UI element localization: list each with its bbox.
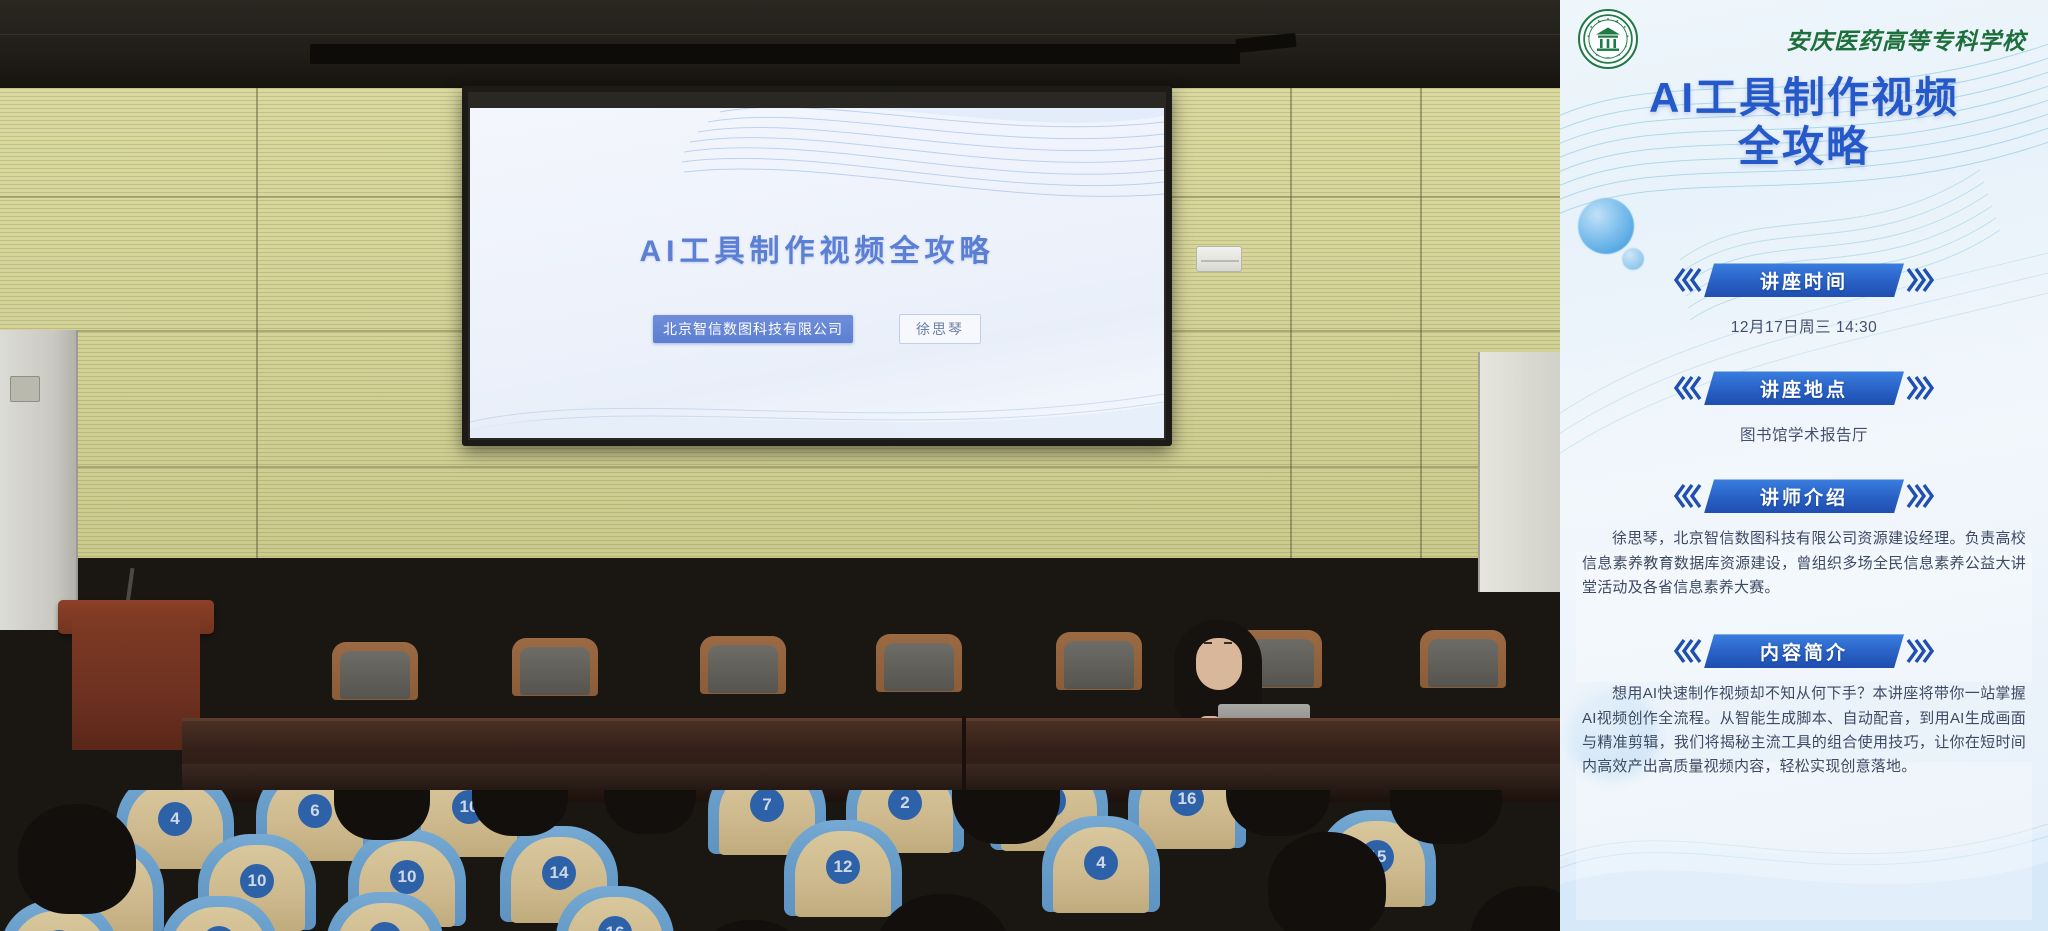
audience-seat: 12 — [784, 820, 902, 916]
ribbon-label: 内容简介 — [1760, 638, 1848, 665]
ribbon-label: 讲座地点 — [1760, 375, 1848, 402]
lecture-venue-value: 图书馆学术报告厅 — [1560, 423, 2048, 445]
chevron-right-icon — [1906, 266, 1936, 294]
slide-footer-wave — [470, 364, 1164, 438]
speaker-bio-text: 徐思琴，北京智信数图科技有限公司资源建设经理。负责高校信息素养教育数据库资源建设… — [1582, 527, 2026, 600]
audience-seat: 10 — [160, 896, 278, 931]
seat-number: 12 — [826, 850, 860, 884]
lecture-time-value: 12月17日周三 14:30 — [1560, 315, 2048, 337]
slide-header-wave — [470, 108, 1164, 228]
projection-screen: AI工具制作视频全攻略 北京智信数图科技有限公司 徐思琴 — [470, 108, 1164, 438]
chevron-left-icon — [1672, 482, 1702, 510]
audience-seat: 14 — [326, 892, 444, 931]
ribbon-speaker-bio: 讲师介绍 — [1670, 479, 1938, 513]
section-content-intro: 内容简介 想用AI快速制作视频却不知从何下手？本讲座将带你一站掌握AI视频创作全… — [1560, 634, 2048, 779]
poster-header: 安庆医药高等专科学校 — [1560, 0, 2048, 78]
seat-number: 6 — [298, 794, 332, 828]
audience-seating: 4 6 10 7 2 9 16 8 10 10 14 12 4 15 12 10… — [0, 790, 1560, 931]
ribbon-label: 讲师介绍 — [1760, 483, 1848, 510]
chevron-left-icon — [1672, 266, 1702, 294]
air-conditioner — [1196, 246, 1242, 272]
seat-number: 4 — [158, 802, 192, 836]
section-lecture-time: 讲座时间 12月17日周三 14:30 — [1560, 263, 2048, 337]
chevron-left-icon — [1672, 374, 1702, 402]
audience-head — [692, 920, 812, 931]
chevron-right-icon — [1906, 482, 1936, 510]
wall-seam — [256, 88, 258, 558]
stage-chair — [332, 642, 418, 702]
poster-title-line-2: 全攻略 — [1560, 123, 2048, 172]
audience-head — [1470, 886, 1560, 931]
ribbon-lecture-time: 讲座时间 — [1670, 263, 1938, 297]
chevron-left-icon — [1672, 637, 1702, 665]
stage-chair — [700, 636, 786, 696]
chevron-right-icon — [1906, 637, 1936, 665]
wall-seam — [0, 466, 1560, 468]
audience-head — [1268, 832, 1386, 931]
screenshot-root: AI工具制作视频全攻略 北京智信数图科技有限公司 徐思琴 — [0, 0, 2048, 931]
chevron-right-icon — [1906, 374, 1936, 402]
pavilion-icon — [1593, 27, 1623, 53]
content-intro-text: 想用AI快速制作视频却不知从何下手？本讲座将带你一站掌握AI视频创作全流程。从智… — [1582, 682, 2026, 779]
section-speaker-bio: 讲师介绍 徐思琴，北京智信数图科技有限公司资源建设经理。负责高校信息素养教育数据… — [1560, 479, 2048, 600]
podium-microphone — [126, 568, 135, 604]
stage-chair — [1056, 632, 1142, 692]
audience-seat: 4 — [1042, 816, 1160, 912]
left-cabinet — [0, 330, 78, 630]
ribbon-label: 讲座时间 — [1760, 267, 1848, 294]
university-name: 安庆医药高等专科学校 — [1638, 22, 2032, 56]
seat-number: 14 — [542, 856, 576, 890]
poster-title: AI工具制作视频 全攻略 — [1560, 74, 2048, 171]
wall-seam — [1290, 88, 1292, 558]
college-emblem-icon — [1578, 9, 1638, 69]
ribbon-content-intro: 内容简介 — [1670, 634, 1938, 668]
slide-speaker-tag: 徐思琴 — [899, 314, 981, 344]
slide-tag-row: 北京智信数图科技有限公司 徐思琴 — [470, 314, 1164, 344]
right-cabinet — [1478, 352, 1560, 592]
stage-chair — [876, 634, 962, 694]
wall-seam — [1420, 88, 1422, 558]
wall-plate — [10, 376, 40, 402]
slide-title: AI工具制作视频全攻略 — [470, 226, 1164, 270]
seat-number: 4 — [1084, 846, 1118, 880]
section-lecture-venue: 讲座地点 图书馆学术报告厅 — [1560, 371, 2048, 445]
ceiling-beam — [310, 44, 1240, 64]
podium — [72, 618, 200, 750]
lecture-hall-video: AI工具制作视频全攻略 北京智信数图科技有限公司 徐思琴 — [0, 0, 1560, 931]
ribbon-lecture-venue: 讲座地点 — [1670, 371, 1938, 405]
seat-number: 10 — [390, 860, 424, 894]
stage-chair — [512, 638, 598, 698]
decor-orb — [1578, 198, 1634, 254]
slide-company-tag: 北京智信数图科技有限公司 — [653, 315, 853, 343]
audience-head — [18, 804, 136, 914]
audience-seat: 16 — [556, 886, 674, 931]
seat-number: 10 — [240, 864, 274, 898]
poster-title-line-1: AI工具制作视频 — [1560, 74, 2048, 123]
stage-chair — [1420, 630, 1506, 690]
lecture-poster: 安庆医药高等专科学校 AI工具制作视频 全攻略 讲座时间 — [1560, 0, 2048, 931]
